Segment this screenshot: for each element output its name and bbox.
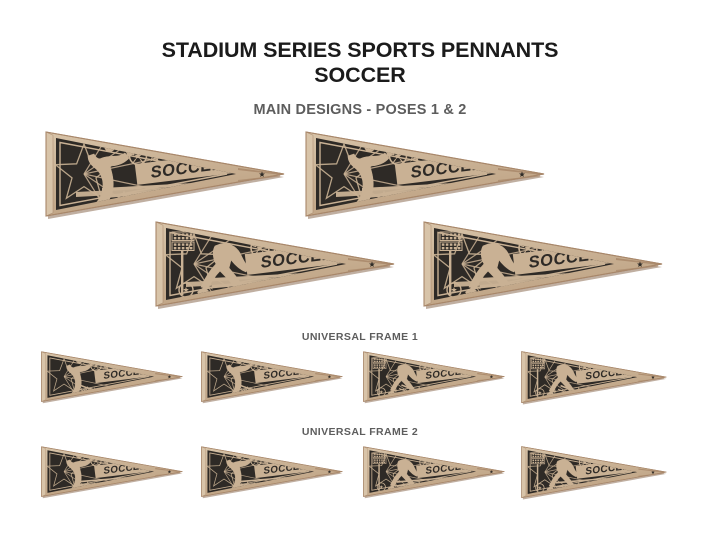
floodlight-lamp [537, 462, 539, 463]
floodlight-lamp [186, 233, 189, 235]
floodlight-lamp [540, 365, 542, 366]
accent-star [571, 242, 576, 247]
floodlight-lamp [381, 364, 383, 365]
accent-star [125, 458, 127, 460]
accent-star [180, 150, 185, 155]
floodlight-lamp [376, 459, 378, 460]
page-title: STADIUM SERIES SPORTS PENNANTS SOCCER [0, 38, 720, 88]
floodlight-lamp [178, 247, 181, 249]
pennant-main-4[interactable]: SOCCER [418, 218, 668, 313]
floodlight-lamp [381, 367, 383, 368]
accent-star [285, 458, 287, 460]
floodlight-lamp [535, 365, 537, 366]
pennant-graphic-goalkeeper: SOCCER [38, 444, 186, 501]
floodlight-lamp [374, 361, 376, 362]
pennant-hoist-bevel [424, 222, 431, 306]
floodlight-lamp [379, 453, 381, 454]
floodlight-lamp [542, 361, 544, 362]
pennant-hoist-bevel [364, 447, 368, 497]
floodlight-lamp [376, 367, 378, 368]
accent-star [121, 458, 124, 461]
floodlight-lamp [540, 460, 542, 461]
pennant-hoist-bevel [46, 132, 53, 216]
floodlight-lamp [446, 237, 449, 239]
floodlight-lamp [454, 233, 457, 235]
floodlight-lamp [186, 237, 189, 239]
floodlight-lamp [374, 462, 376, 463]
floodlight-lamp [450, 237, 453, 239]
accent-star [440, 150, 445, 155]
section-label-universal-frame-1: UNIVERSAL FRAME 1 [0, 331, 720, 343]
floodlight-lamp [532, 456, 534, 457]
pennant-graphic-goalkeeper: SOCCER [198, 444, 346, 501]
floodlight-lamp [454, 247, 457, 249]
floodlight-pole [181, 251, 183, 295]
floodlight-lamp [379, 361, 381, 362]
floodlight-lamp [537, 367, 539, 368]
floodlight-lamp [376, 456, 378, 457]
accent-star [615, 459, 617, 461]
pennant-graphic-kicker: SOCCER [418, 218, 668, 313]
floodlight-lamp [540, 462, 542, 463]
floodlight-lamp [542, 453, 544, 454]
floodlight-lamp [384, 358, 386, 359]
floodlight-lamp [537, 460, 539, 461]
pennant-f1-1[interactable]: SOCCER [38, 349, 186, 406]
floodlight-lamp [376, 462, 378, 463]
pennant-f2-4[interactable]: SOCCER [518, 444, 670, 502]
floodlight-lamp [374, 459, 376, 460]
pennant-f1-2[interactable]: SOCCER [198, 349, 346, 406]
floodlight-lamp [186, 247, 189, 249]
floodlight-lamp [535, 361, 537, 362]
pennant-hoist-bevel [156, 222, 163, 306]
floodlight-lamp [535, 456, 537, 457]
floodlight-lamp [182, 243, 185, 245]
pennant-graphic-goalkeeper: SOCCER [38, 349, 186, 406]
floodlight-lamp [542, 358, 544, 359]
floodlight-lamp [384, 459, 386, 460]
section-label-universal-frame-2: UNIVERSAL FRAME 2 [0, 426, 720, 438]
floodlight-lamp [442, 237, 445, 239]
accent-star [615, 364, 617, 366]
floodlight-lamp [540, 367, 542, 368]
floodlight-lamp [450, 247, 453, 249]
floodlight-lamp [537, 365, 539, 366]
pennant-hoist-bevel [522, 352, 526, 403]
floodlight-lamp [540, 361, 542, 362]
pennant-main-3[interactable]: SOCCER [150, 218, 400, 313]
floodlight-lamp [376, 364, 378, 365]
title-line-1: STADIUM SERIES SPORTS PENNANTS [0, 38, 720, 63]
floodlight-lamp [182, 233, 185, 235]
accent-star [450, 459, 453, 462]
floodlight-lamp [458, 233, 461, 235]
floodlight-lamp [454, 243, 457, 245]
pennant-hoist-bevel [522, 447, 526, 498]
floodlight-lamp [446, 243, 449, 245]
pennant-main-2[interactable]: SOCCER [300, 128, 550, 223]
floodlight-lamp [532, 361, 534, 362]
accent-star [611, 364, 614, 367]
pennant-graphic-goalkeeper: SOCCER [198, 349, 346, 406]
pennant-f2-3[interactable]: SOCCER [360, 444, 508, 501]
floodlight-lamp [442, 243, 445, 245]
pennant-hoist-bevel [42, 352, 46, 402]
floodlight-pole [378, 369, 379, 395]
floodlight-lamp [190, 243, 193, 245]
floodlight-lamp [381, 361, 383, 362]
floodlight-lamp [379, 462, 381, 463]
title-line-2: SOCCER [0, 63, 720, 88]
floodlight-lamp [384, 364, 386, 365]
floodlight-lamp [442, 247, 445, 249]
floodlight-lamp [535, 367, 537, 368]
floodlight-lamp [379, 456, 381, 457]
floodlight-lamp [381, 453, 383, 454]
floodlight-lamp [450, 243, 453, 245]
floodlight-lamp [458, 247, 461, 249]
accent-star [281, 363, 284, 366]
floodlight-lamp [532, 462, 534, 463]
accent-star [285, 363, 287, 365]
floodlight-lamp [174, 237, 177, 239]
floodlight-lamp [535, 358, 537, 359]
floodlight-lamp [384, 361, 386, 362]
floodlight-lamp [458, 243, 461, 245]
floodlight-lamp [532, 460, 534, 461]
pennant-graphic-kicker: SOCCER [150, 218, 400, 313]
pennant-hoist-bevel [42, 447, 46, 497]
floodlight-lamp [532, 453, 534, 454]
accent-star [455, 364, 457, 366]
floodlight-lamp [537, 358, 539, 359]
accent-star [125, 363, 127, 365]
floodlight-lamp [446, 247, 449, 249]
floodlight-lamp [384, 367, 386, 368]
floodlight-lamp [542, 456, 544, 457]
pennant-f2-2[interactable]: SOCCER [198, 444, 346, 501]
floodlight-lamp [374, 367, 376, 368]
floodlight-lamp [190, 237, 193, 239]
floodlight-lamp [178, 243, 181, 245]
floodlight-lamp [540, 358, 542, 359]
accent-star [611, 459, 614, 462]
pennant-hoist-bevel [364, 352, 368, 402]
accent-star [450, 364, 453, 367]
pennant-graphic-kicker: SOCCER [360, 349, 508, 406]
floodlight-lamp [374, 358, 376, 359]
accent-star [303, 242, 308, 247]
floodlight-lamp [374, 364, 376, 365]
pennant-graphic-kicker: SOCCER [360, 444, 508, 501]
accent-star [121, 363, 124, 366]
floodlight-lamp [384, 456, 386, 457]
floodlight-lamp [532, 367, 534, 368]
floodlight-lamp [537, 453, 539, 454]
floodlight-lamp [376, 361, 378, 362]
floodlight-lamp [535, 462, 537, 463]
floodlight-pole [449, 251, 451, 295]
pennant-graphic-goalkeeper: SOCCER [300, 128, 550, 223]
floodlight-lamp [540, 456, 542, 457]
floodlight-lamp [379, 367, 381, 368]
floodlight-pole [537, 369, 538, 396]
floodlight-lamp [446, 233, 449, 235]
floodlight-lamp [178, 237, 181, 239]
accent-star [310, 242, 314, 246]
pennant-f1-4[interactable]: SOCCER [518, 349, 670, 407]
pennant-graphic-kicker: SOCCER [518, 444, 670, 502]
accent-star [578, 242, 582, 246]
floodlight-lamp [542, 367, 544, 368]
floodlight-lamp [384, 462, 386, 463]
floodlight-lamp [174, 243, 177, 245]
floodlight-lamp [532, 358, 534, 359]
floodlight-lamp [458, 237, 461, 239]
accent-star [188, 150, 192, 154]
floodlight-lamp [384, 453, 386, 454]
floodlight-lamp [454, 237, 457, 239]
floodlight-lamp [186, 243, 189, 245]
accent-star [448, 150, 452, 154]
pennant-f1-3[interactable]: SOCCER [360, 349, 508, 406]
accent-star [281, 458, 284, 461]
floodlight-lamp [376, 453, 378, 454]
floodlight-lamp [537, 361, 539, 362]
floodlight-lamp [535, 460, 537, 461]
pennant-hoist-bevel [306, 132, 313, 216]
pennant-f2-1[interactable]: SOCCER [38, 444, 186, 501]
floodlight-lamp [542, 365, 544, 366]
floodlight-lamp [190, 233, 193, 235]
pennant-graphic-kicker: SOCCER [518, 349, 670, 407]
floodlight-lamp [374, 453, 376, 454]
floodlight-lamp [379, 358, 381, 359]
floodlight-lamp [381, 456, 383, 457]
floodlight-lamp [182, 247, 185, 249]
page-subtitle: MAIN DESIGNS - POSES 1 & 2 [0, 102, 720, 118]
floodlight-lamp [381, 462, 383, 463]
floodlight-lamp [190, 247, 193, 249]
floodlight-lamp [540, 453, 542, 454]
floodlight-lamp [178, 233, 181, 235]
floodlight-lamp [442, 233, 445, 235]
floodlight-lamp [532, 365, 534, 366]
floodlight-lamp [537, 456, 539, 457]
floodlight-lamp [381, 459, 383, 460]
floodlight-lamp [376, 358, 378, 359]
pennant-hoist-bevel [202, 352, 206, 402]
artboard: STADIUM SERIES SPORTS PENNANTS SOCCER MA… [0, 0, 720, 540]
floodlight-lamp [379, 459, 381, 460]
accent-star [455, 459, 457, 461]
floodlight-lamp [542, 460, 544, 461]
floodlight-lamp [374, 456, 376, 457]
floodlight-lamp [182, 237, 185, 239]
floodlight-pole [537, 464, 538, 491]
floodlight-lamp [381, 358, 383, 359]
pennant-graphic-goalkeeper: SOCCER [40, 128, 290, 223]
pennant-hoist-bevel [202, 447, 206, 497]
floodlight-lamp [174, 247, 177, 249]
floodlight-lamp [174, 233, 177, 235]
floodlight-lamp [450, 233, 453, 235]
pennant-main-1[interactable]: SOCCER [40, 128, 290, 223]
floodlight-pole [378, 464, 379, 490]
floodlight-lamp [535, 453, 537, 454]
floodlight-lamp [379, 364, 381, 365]
floodlight-lamp [542, 462, 544, 463]
